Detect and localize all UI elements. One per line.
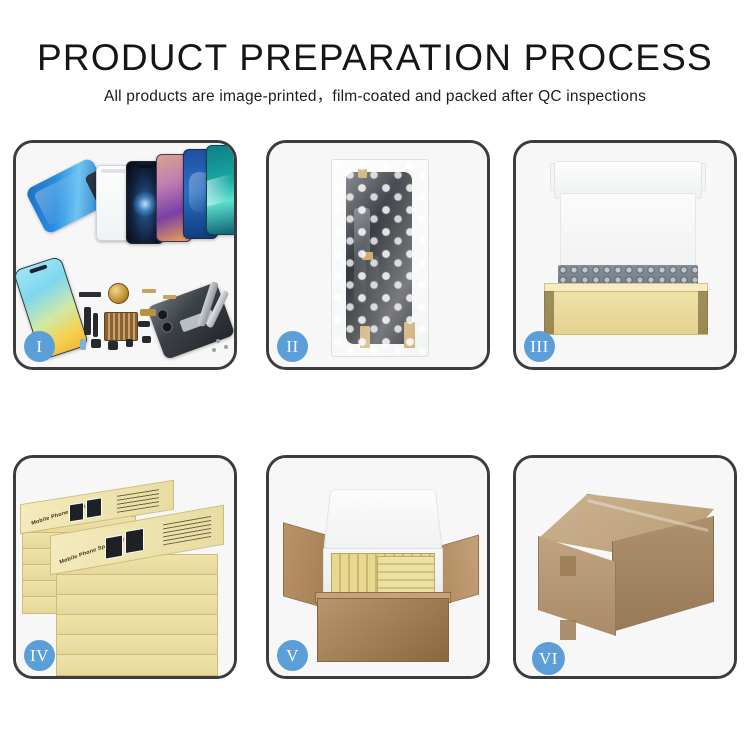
box-window-thumb (105, 534, 123, 559)
box-window-thumb (86, 497, 102, 519)
stacked-box (56, 574, 218, 596)
gold-contact-strip (163, 295, 176, 299)
small-component (142, 336, 151, 343)
step-badge-1: I (24, 331, 55, 362)
stacked-box (56, 634, 218, 656)
gold-contact-strip (142, 289, 156, 293)
gold-flex-connector (140, 309, 156, 316)
product-preparation-infographic: PRODUCT PREPARATION PROCESS All products… (0, 0, 750, 750)
flex-connector (138, 321, 150, 327)
screw (212, 348, 216, 352)
box-window-thumb (69, 502, 84, 522)
carton-tape-patch (560, 556, 576, 576)
flex-cable (84, 307, 91, 335)
battery-connector-bar (79, 292, 101, 297)
process-step-panel-5: V (266, 455, 490, 679)
small-component (80, 339, 86, 350)
carton-tape-patch (560, 620, 576, 640)
carton-body (317, 598, 449, 662)
wallpaper-burst (132, 191, 158, 217)
kraft-box-front (544, 291, 708, 335)
notch (138, 165, 153, 168)
notch (29, 264, 47, 273)
step-badge-6: VI (532, 642, 565, 675)
step-badge-2: II (277, 331, 308, 362)
screw (224, 345, 228, 349)
bubble-wrap-bag (331, 159, 429, 357)
step-badge-4: IV (24, 640, 55, 671)
process-step-grid: I II (0, 0, 750, 750)
camera-lens (160, 320, 174, 334)
camera-lens (156, 308, 170, 322)
process-step-panel-6: VI (513, 455, 737, 679)
box-window-thumb (125, 528, 144, 554)
step-badge-3: III (524, 331, 555, 362)
chip-grid-ic (104, 312, 138, 341)
process-step-panel-2: II (266, 140, 490, 370)
plastic-sheen (332, 160, 428, 356)
stacked-box (56, 594, 218, 616)
small-component (108, 341, 118, 350)
box-spec-lines (163, 515, 211, 545)
process-step-panel-4: Mobile Phone Spare Parts Mobile Phone (13, 455, 237, 679)
foam-box-lid (323, 489, 442, 550)
screw (216, 339, 220, 343)
process-step-panel-3: III (513, 140, 737, 370)
process-step-panel-1: I (13, 140, 237, 370)
foam-lid-inner (560, 193, 696, 267)
stacked-box (56, 654, 218, 676)
step-badge-5: V (277, 640, 308, 671)
gold-coin-component (108, 283, 129, 304)
teal-gradient-phone (206, 145, 234, 235)
carton-front-face (538, 536, 616, 636)
flex-cable (93, 313, 98, 337)
small-component (91, 339, 101, 348)
small-component (126, 339, 133, 347)
yellow-boxes-row (377, 556, 435, 596)
stacked-box (56, 614, 218, 636)
box-spec-lines (117, 488, 159, 513)
